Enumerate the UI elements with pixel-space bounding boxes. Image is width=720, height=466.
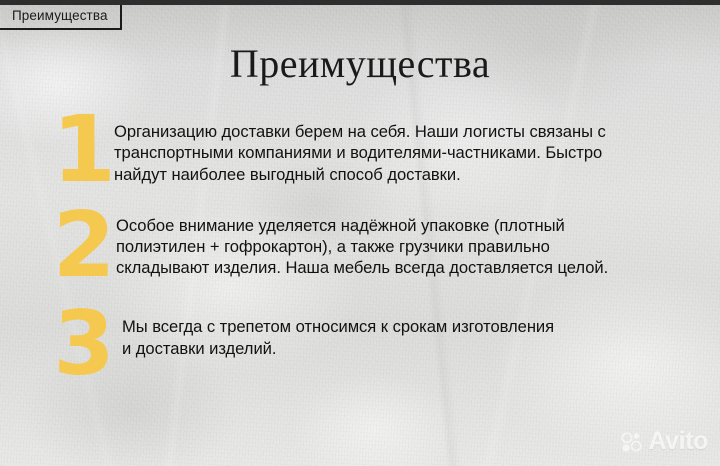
item-text-line: Организацию доставки берем на себя. Наши… bbox=[114, 121, 714, 142]
item-text-line: складывают изделия. Наша мебель всегда д… bbox=[116, 257, 714, 278]
item-text-line: Особое внимание уделяется надёжной упако… bbox=[116, 215, 714, 236]
page-title: Преимущества bbox=[0, 44, 720, 84]
item-numeral-2: 2 bbox=[48, 205, 120, 288]
section-tag-label: Преимущества bbox=[12, 8, 108, 23]
item-numeral-1: 1 bbox=[48, 108, 120, 193]
list-item: 1 Организацию доставки берем на себя. На… bbox=[0, 112, 720, 193]
item-text-3: Мы всегда с трепетом относимся к срокам … bbox=[122, 304, 720, 359]
list-item: 3 Мы всегда с трепетом относимся к срока… bbox=[0, 304, 720, 385]
item-numeral-3: 3 bbox=[48, 304, 120, 385]
item-text-line: Мы всегда с трепетом относимся к срокам … bbox=[122, 316, 714, 337]
advantages-list: 1 Организацию доставки берем на себя. На… bbox=[0, 112, 720, 385]
item-text-line: найдут наиболее выгодный способ доставки… bbox=[114, 164, 714, 185]
item-text-line: полиэтилен + гофрокартон), а также грузч… bbox=[116, 236, 714, 257]
list-item: 2 Особое внимание уделяется надёжной упа… bbox=[0, 207, 720, 288]
item-text-2: Особое внимание уделяется надёжной упако… bbox=[116, 207, 720, 279]
item-text-1: Организацию доставки берем на себя. Наши… bbox=[114, 112, 720, 185]
item-text-line: транспортными компаниями и водителями-ча… bbox=[114, 142, 714, 163]
slide-canvas: Преимущества Преимущества 1 Организацию … bbox=[0, 0, 720, 466]
section-tag: Преимущества bbox=[0, 5, 122, 30]
item-text-line: и доставки изделий. bbox=[122, 338, 714, 359]
